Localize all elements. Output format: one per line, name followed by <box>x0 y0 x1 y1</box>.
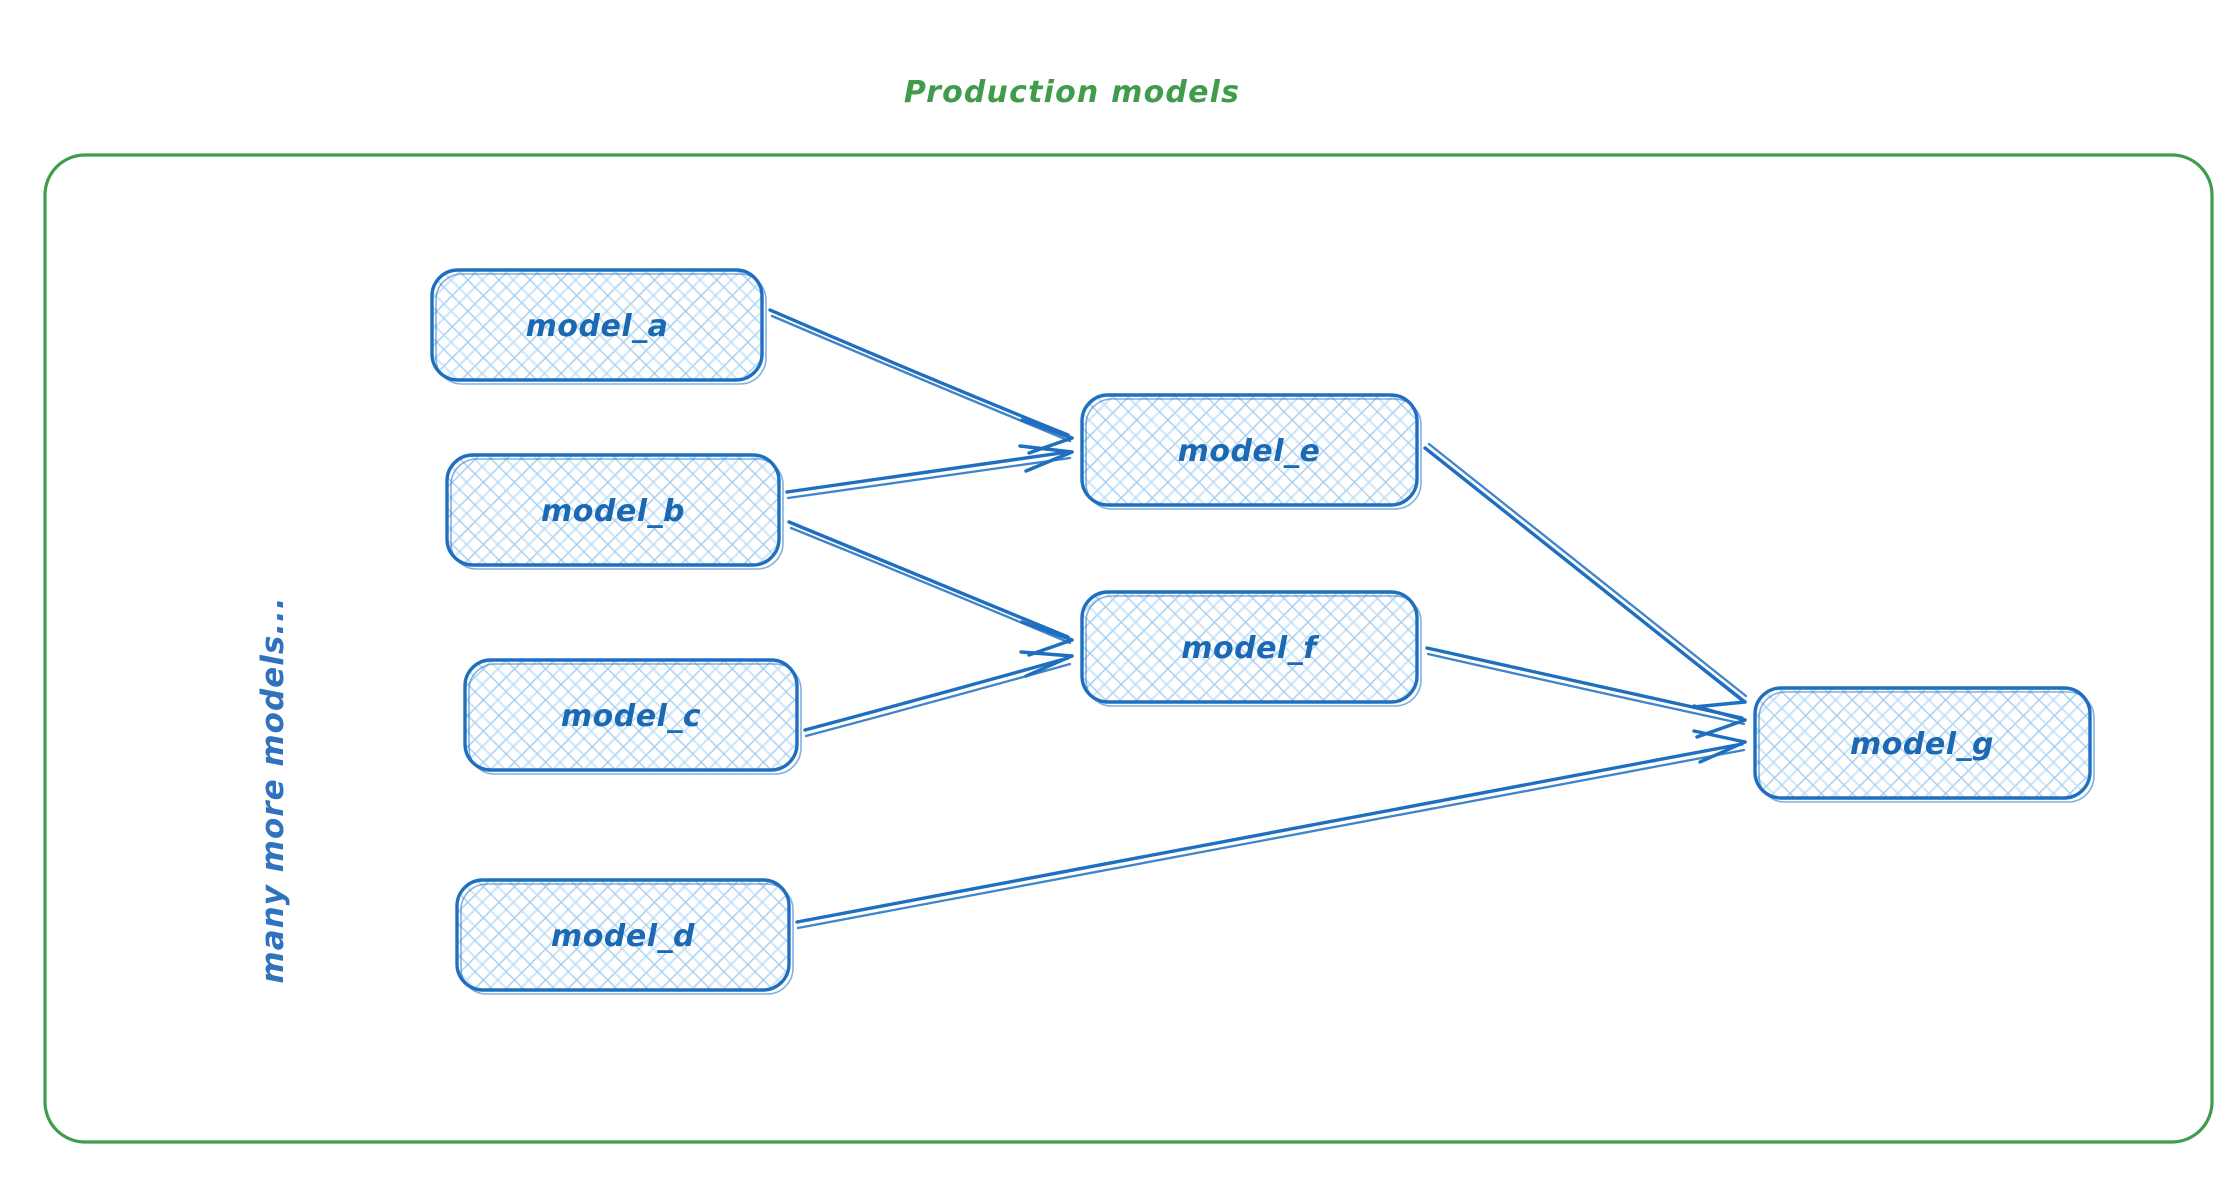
node-label-model-a: model_a <box>526 309 669 344</box>
many-more-models-label: many more models... <box>255 596 291 983</box>
node-model-f[interactable]: model_f <box>1082 592 1421 706</box>
side-label-text: many more models... <box>255 596 291 983</box>
node-model-b[interactable]: model_b <box>447 455 783 569</box>
edge-model-f-to-model-g <box>1427 648 1745 737</box>
node-label-model-b: model_b <box>541 494 685 529</box>
node-label-model-c: model_c <box>561 699 701 734</box>
node-label-model-f: model_f <box>1181 631 1320 666</box>
node-model-a[interactable]: model_a <box>432 270 766 384</box>
edge-model-d-to-model-g <box>797 731 1745 928</box>
edge-model-a-to-model-e <box>770 310 1072 453</box>
nodes-layer: model_a model_b model_c <box>432 270 2094 994</box>
node-model-g[interactable]: model_g <box>1755 688 2094 802</box>
node-model-e[interactable]: model_e <box>1082 395 1421 509</box>
node-label-model-g: model_g <box>1850 727 1994 762</box>
node-label-model-e: model_e <box>1178 434 1321 469</box>
group-title: Production models <box>904 75 1240 110</box>
diagram-svg: Production models many more models... <box>0 0 2240 1188</box>
node-label-model-d: model_d <box>551 919 695 954</box>
node-model-d[interactable]: model_d <box>457 880 793 994</box>
edge-model-b-to-model-f <box>789 522 1072 655</box>
node-model-c[interactable]: model_c <box>465 660 801 774</box>
edge-model-c-to-model-f <box>805 652 1072 736</box>
edge-model-e-to-model-g <box>1425 444 1746 707</box>
diagram-canvas: Production models many more models... <box>0 0 2240 1188</box>
